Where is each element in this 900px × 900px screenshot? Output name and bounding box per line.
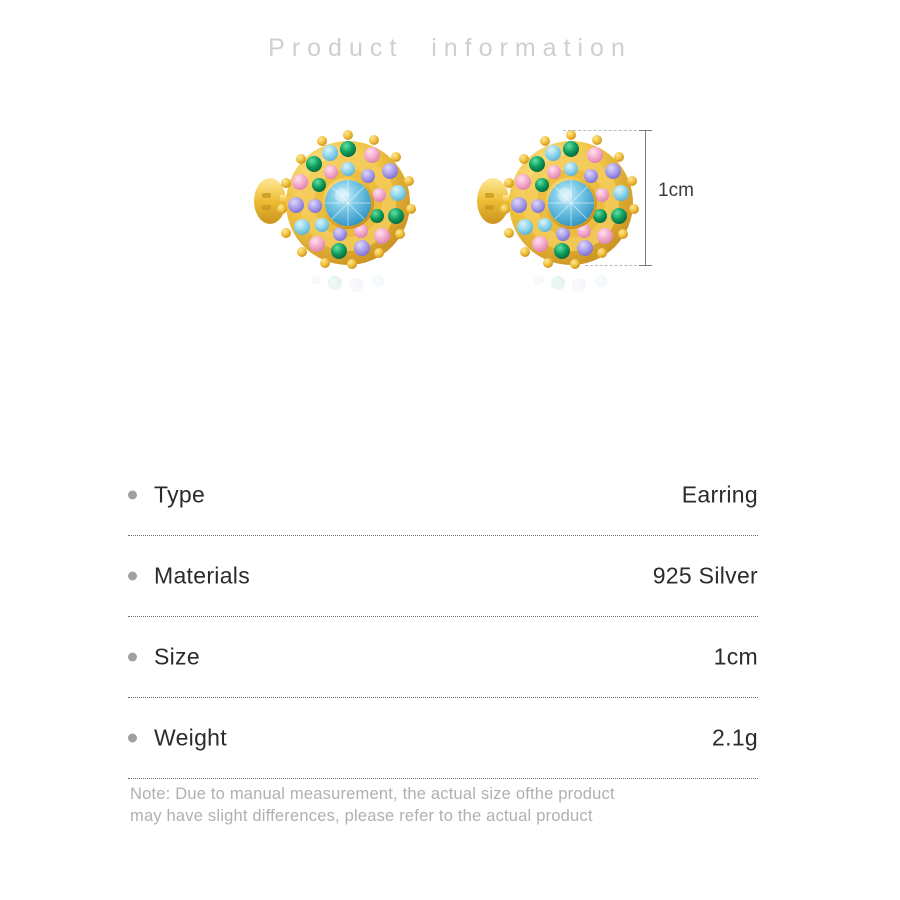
earring-right bbox=[455, 113, 675, 303]
table-row: Weight 2.1g bbox=[128, 698, 758, 778]
center-stone-right bbox=[545, 177, 597, 229]
product-information-page: Product information bbox=[0, 0, 900, 900]
bullet-icon bbox=[128, 572, 137, 581]
table-row: Type Earring bbox=[128, 455, 758, 535]
center-stone-left bbox=[322, 177, 374, 229]
earring-reflection-left bbox=[292, 271, 412, 303]
dimension-measure-line bbox=[645, 130, 646, 266]
spec-label-size: Size bbox=[154, 644, 200, 671]
bullet-icon bbox=[128, 653, 137, 662]
note-line-1: Note: Due to manual measurement, the act… bbox=[130, 783, 770, 805]
bullet-icon bbox=[128, 491, 137, 500]
earring-left-illustration bbox=[232, 113, 452, 303]
bullet-icon bbox=[128, 734, 137, 743]
spec-label-group: Size bbox=[128, 644, 200, 671]
table-row: Materials 925 Silver bbox=[128, 536, 758, 616]
earring-reflection-right bbox=[515, 271, 635, 303]
earring-right-illustration bbox=[455, 113, 675, 303]
spec-label-materials: Materials bbox=[154, 563, 250, 590]
spec-value-type: Earring bbox=[682, 482, 758, 509]
product-image-area bbox=[0, 105, 900, 335]
earring-head-left bbox=[277, 130, 416, 269]
spec-value-size: 1cm bbox=[714, 644, 758, 671]
spec-label-group: Weight bbox=[128, 725, 227, 752]
spec-label-group: Type bbox=[128, 482, 205, 509]
table-row: Size 1cm bbox=[128, 617, 758, 697]
row-divider bbox=[128, 778, 758, 779]
dimension-guide-bottom bbox=[585, 265, 647, 266]
dimension-cap-top bbox=[639, 130, 652, 131]
spec-table: Type Earring Materials 925 Silver Size 1… bbox=[128, 455, 758, 779]
spec-value-weight: 2.1g bbox=[712, 725, 758, 752]
spec-value-materials: 925 Silver bbox=[653, 563, 758, 590]
earring-left bbox=[232, 113, 452, 303]
dimension-label: 1cm bbox=[658, 180, 694, 202]
spec-label-type: Type bbox=[154, 482, 205, 509]
earring-head-right bbox=[500, 130, 639, 269]
page-title: Product information bbox=[0, 34, 900, 63]
dimension-guide-top bbox=[563, 130, 647, 131]
dimension-cap-bottom bbox=[639, 265, 652, 266]
note-line-2: may have slight differences, please refe… bbox=[130, 805, 770, 827]
spec-label-weight: Weight bbox=[154, 725, 227, 752]
disclaimer-note: Note: Due to manual measurement, the act… bbox=[130, 783, 770, 827]
spec-label-group: Materials bbox=[128, 563, 250, 590]
